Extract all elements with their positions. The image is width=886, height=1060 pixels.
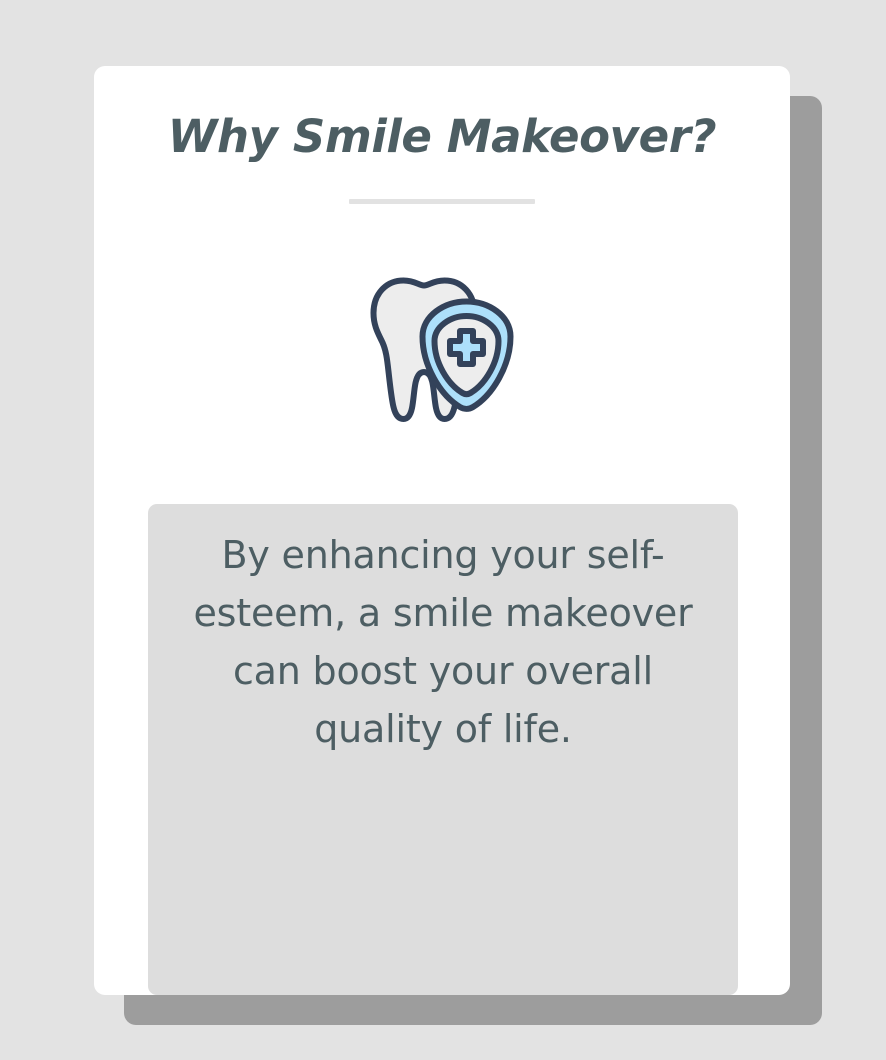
- title-divider: [349, 199, 535, 204]
- tooth-shield-protection-icon: [94, 271, 790, 426]
- page-title: Why Smile Makeover?: [94, 110, 790, 164]
- slide-canvas: Why Smile Makeover? By enhancing your se…: [0, 0, 886, 1060]
- quote-panel: By enhancing your self-esteem, a smile m…: [148, 504, 738, 995]
- info-card: Why Smile Makeover? By enhancing your se…: [94, 66, 790, 995]
- tooth-shield-icon-graphic: [362, 274, 522, 424]
- quote-text: By enhancing your self-esteem, a smile m…: [174, 526, 712, 758]
